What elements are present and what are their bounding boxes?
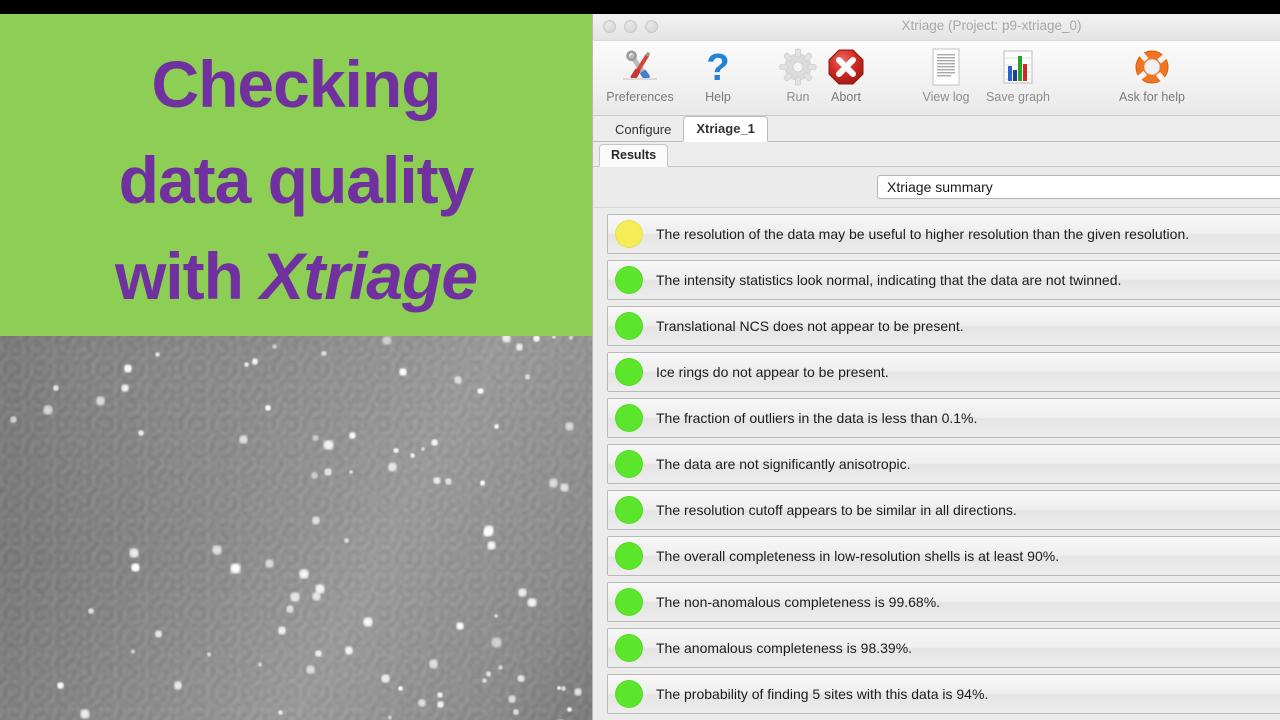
- diffraction-spot: [487, 541, 497, 551]
- xtriage-app-window: Xtriage (Project: p9-xtriage_0): [592, 14, 1280, 720]
- toolbar-label-ask-for-help: Ask for help: [1109, 90, 1195, 104]
- diffraction-spot: [410, 453, 415, 458]
- diffraction-spot: [323, 440, 334, 451]
- diffraction-spot: [43, 405, 53, 415]
- diffraction-spot: [398, 686, 403, 691]
- status-badge: [615, 542, 643, 570]
- slide-left-panel: Checking data quality with Xtriage: [0, 14, 592, 720]
- diffraction-spot: [265, 405, 271, 411]
- status-badge: [615, 634, 643, 662]
- diffraction-spot: [252, 358, 259, 365]
- result-message: The probability of finding 5 sites with …: [656, 686, 988, 702]
- status-badge: [615, 450, 643, 478]
- diffraction-spot: [561, 686, 566, 691]
- svg-text:?: ?: [706, 48, 729, 86]
- status-badge: [615, 680, 643, 708]
- status-badge: [615, 496, 643, 524]
- diffraction-spot: [265, 559, 274, 568]
- diffraction-spot: [388, 462, 397, 471]
- diffraction-spot: [311, 472, 318, 479]
- diffraction-spot: [525, 374, 531, 380]
- title-line-1: Checking: [0, 36, 592, 132]
- diffraction-spot: [502, 336, 512, 343]
- table-row[interactable]: The probability of finding 5 sites with …: [607, 674, 1280, 714]
- diffraction-spot: [498, 665, 503, 670]
- toolbar-label-abort: Abort: [803, 90, 889, 104]
- result-message: The non-anomalous completeness is 99.68%…: [656, 594, 940, 610]
- diffraction-spot: [516, 343, 523, 350]
- diffraction-spot: [513, 709, 518, 714]
- diffraction-spot: [272, 344, 277, 349]
- table-row[interactable]: The overall completeness in low-resoluti…: [607, 536, 1280, 576]
- table-row[interactable]: The resolution of the data may be useful…: [607, 214, 1280, 254]
- diffraction-spot: [549, 478, 559, 488]
- title-line-3-prefix: with: [115, 239, 260, 313]
- diffraction-spot: [454, 376, 462, 384]
- diffraction-spot: [437, 692, 443, 698]
- toolbar-label-help: Help: [675, 90, 761, 104]
- tab-configure[interactable]: Configure: [603, 118, 683, 142]
- result-message: The intensity statistics look normal, in…: [656, 272, 1121, 288]
- diffraction-spot: [315, 650, 321, 656]
- diffraction-spot: [88, 608, 94, 614]
- screenshot-root: Checking data quality with Xtriage Xtria…: [0, 0, 1280, 720]
- diffraction-spot: [527, 598, 537, 608]
- tab-xtriage-1[interactable]: Xtriage_1: [683, 116, 768, 142]
- diffraction-spot: [10, 416, 17, 423]
- toolbar-button-help[interactable]: ? Help: [675, 46, 761, 104]
- diffraction-spot: [429, 659, 438, 668]
- diffraction-spot: [258, 662, 263, 667]
- title-card: Checking data quality with Xtriage: [0, 14, 592, 336]
- diffraction-spot: [431, 439, 438, 446]
- diffraction-spot: [96, 396, 105, 405]
- status-badge: [615, 588, 643, 616]
- diffraction-spot: [363, 617, 373, 627]
- table-row[interactable]: The resolution cutoff appears to be simi…: [607, 490, 1280, 530]
- diffraction-spot: [445, 478, 452, 485]
- status-badge: [615, 220, 643, 248]
- diffraction-spot: [486, 671, 491, 676]
- letterbox-top: [0, 0, 1280, 14]
- title-line-2: data quality: [0, 132, 592, 228]
- diffraction-spot: [312, 516, 320, 524]
- diffraction-spot: [349, 432, 356, 439]
- main-toolbar: Preferences ? Help: [593, 41, 1280, 116]
- diffraction-spot: [207, 652, 211, 656]
- window-titlebar: Xtriage (Project: p9-xtriage_0): [593, 14, 1280, 41]
- result-message: The overall completeness in low-resoluti…: [656, 548, 1059, 564]
- status-badge: [615, 266, 643, 294]
- diffraction-spot: [494, 424, 499, 429]
- result-message: The anomalous completeness is 98.39%.: [656, 640, 912, 656]
- diffraction-spot: [129, 548, 138, 557]
- main-tabbar: Configure Xtriage_1: [593, 116, 1280, 142]
- result-message: Translational NCS does not appear to be …: [656, 318, 964, 334]
- diffraction-spot: [290, 592, 300, 602]
- diffraction-spot: [230, 563, 241, 574]
- diffraction-spot: [381, 674, 391, 684]
- toolbar-label-preferences: Preferences: [597, 90, 683, 104]
- diffraction-spot: [456, 622, 464, 630]
- result-message: Ice rings do not appear to be present.: [656, 364, 889, 380]
- result-message: The resolution cutoff appears to be simi…: [656, 502, 1017, 518]
- diffraction-image: [0, 336, 592, 720]
- tools-icon: [597, 46, 683, 88]
- diffraction-spot: [491, 637, 502, 648]
- diffraction-spot: [421, 447, 425, 451]
- diffraction-spot: [315, 584, 325, 594]
- diffraction-spot: [518, 588, 527, 597]
- diffraction-spot: [565, 422, 574, 431]
- page-title: Checking data quality with Xtriage: [0, 36, 592, 324]
- diffraction-spot: [312, 435, 319, 442]
- toolbar-button-save-graph[interactable]: Save graph: [975, 46, 1061, 104]
- toolbar-button-preferences[interactable]: Preferences: [597, 46, 683, 104]
- diffraction-spot: [239, 435, 248, 444]
- status-badge: [615, 312, 643, 340]
- diffraction-spot: [567, 707, 572, 712]
- toolbar-button-ask-for-help[interactable]: Ask for help: [1109, 46, 1195, 104]
- diffraction-spot: [306, 665, 315, 674]
- diffraction-spot: [533, 336, 540, 342]
- diffraction-spot: [382, 336, 391, 345]
- diffraction-spot: [433, 477, 440, 484]
- diffraction-spot: [437, 701, 444, 708]
- diffraction-spot: [131, 563, 141, 573]
- diffraction-spot: [321, 351, 326, 356]
- diffraction-spot: [483, 528, 492, 537]
- table-row[interactable]: The anomalous completeness is 98.39%.: [607, 628, 1280, 668]
- table-row[interactable]: The non-anomalous completeness is 99.68%…: [607, 582, 1280, 622]
- diffraction-spot: [53, 385, 59, 391]
- tab-results[interactable]: Results: [599, 144, 668, 167]
- diffraction-spot: [393, 448, 398, 453]
- diffraction-noise-layer-2: [0, 336, 592, 720]
- table-row[interactable]: The intensity statistics look normal, in…: [607, 260, 1280, 300]
- window-title: Xtriage (Project: p9-xtriage_0): [593, 18, 1280, 33]
- diffraction-spot: [278, 626, 286, 634]
- summary-selector[interactable]: Xtriage summary: [877, 175, 1280, 199]
- diffraction-spot: [121, 384, 129, 392]
- diffraction-spot: [324, 468, 332, 476]
- status-badge: [615, 404, 643, 432]
- table-row[interactable]: The data are not significantly anisotrop…: [607, 444, 1280, 484]
- diffraction-spot: [174, 681, 182, 689]
- diffraction-spot: [244, 362, 249, 367]
- results-list: The resolution of the data may be useful…: [593, 208, 1280, 720]
- diffraction-spot: [138, 430, 144, 436]
- table-row[interactable]: Translational NCS does not appear to be …: [607, 306, 1280, 346]
- diffraction-spot: [477, 388, 484, 395]
- table-row[interactable]: The fraction of outliers in the data is …: [607, 398, 1280, 438]
- status-badge: [615, 358, 643, 386]
- diffraction-spot: [286, 605, 294, 613]
- diffraction-spot: [80, 709, 90, 719]
- summary-selector-row: Xtriage summary: [593, 167, 1280, 208]
- diffraction-spot: [482, 678, 486, 682]
- bar-chart-icon: [975, 46, 1061, 88]
- diffraction-spot: [212, 545, 222, 555]
- diffraction-spot: [345, 646, 354, 655]
- toolbar-label-save-graph: Save graph: [975, 90, 1061, 104]
- diffraction-spot: [124, 364, 133, 373]
- diffraction-spot: [344, 538, 349, 543]
- title-line-3: with Xtriage: [0, 228, 592, 324]
- sub-tabbar: Results: [593, 142, 1280, 167]
- toolbar-button-abort[interactable]: Abort: [803, 46, 889, 104]
- diffraction-spot: [480, 480, 485, 485]
- diffraction-spot: [57, 682, 64, 689]
- result-message: The fraction of outliers in the data is …: [656, 410, 977, 426]
- diffraction-spot: [560, 483, 570, 493]
- diffraction-spot: [508, 695, 516, 703]
- diffraction-spot: [155, 630, 163, 638]
- diffraction-spot: [299, 569, 309, 579]
- diffraction-spot: [517, 675, 525, 683]
- result-message: The resolution of the data may be useful…: [656, 226, 1189, 242]
- table-row[interactable]: Ice rings do not appear to be present.: [607, 352, 1280, 392]
- title-emphasis: Xtriage: [260, 239, 477, 313]
- result-message: The data are not significantly anisotrop…: [656, 456, 910, 472]
- diffraction-spot: [399, 368, 407, 376]
- diffraction-spot: [574, 688, 582, 696]
- diffraction-spot: [418, 699, 426, 707]
- life-ring-icon: [1109, 46, 1195, 88]
- diffraction-spot: [278, 710, 283, 715]
- stop-octagon-icon: [803, 46, 889, 88]
- question-mark-icon: ?: [675, 46, 761, 88]
